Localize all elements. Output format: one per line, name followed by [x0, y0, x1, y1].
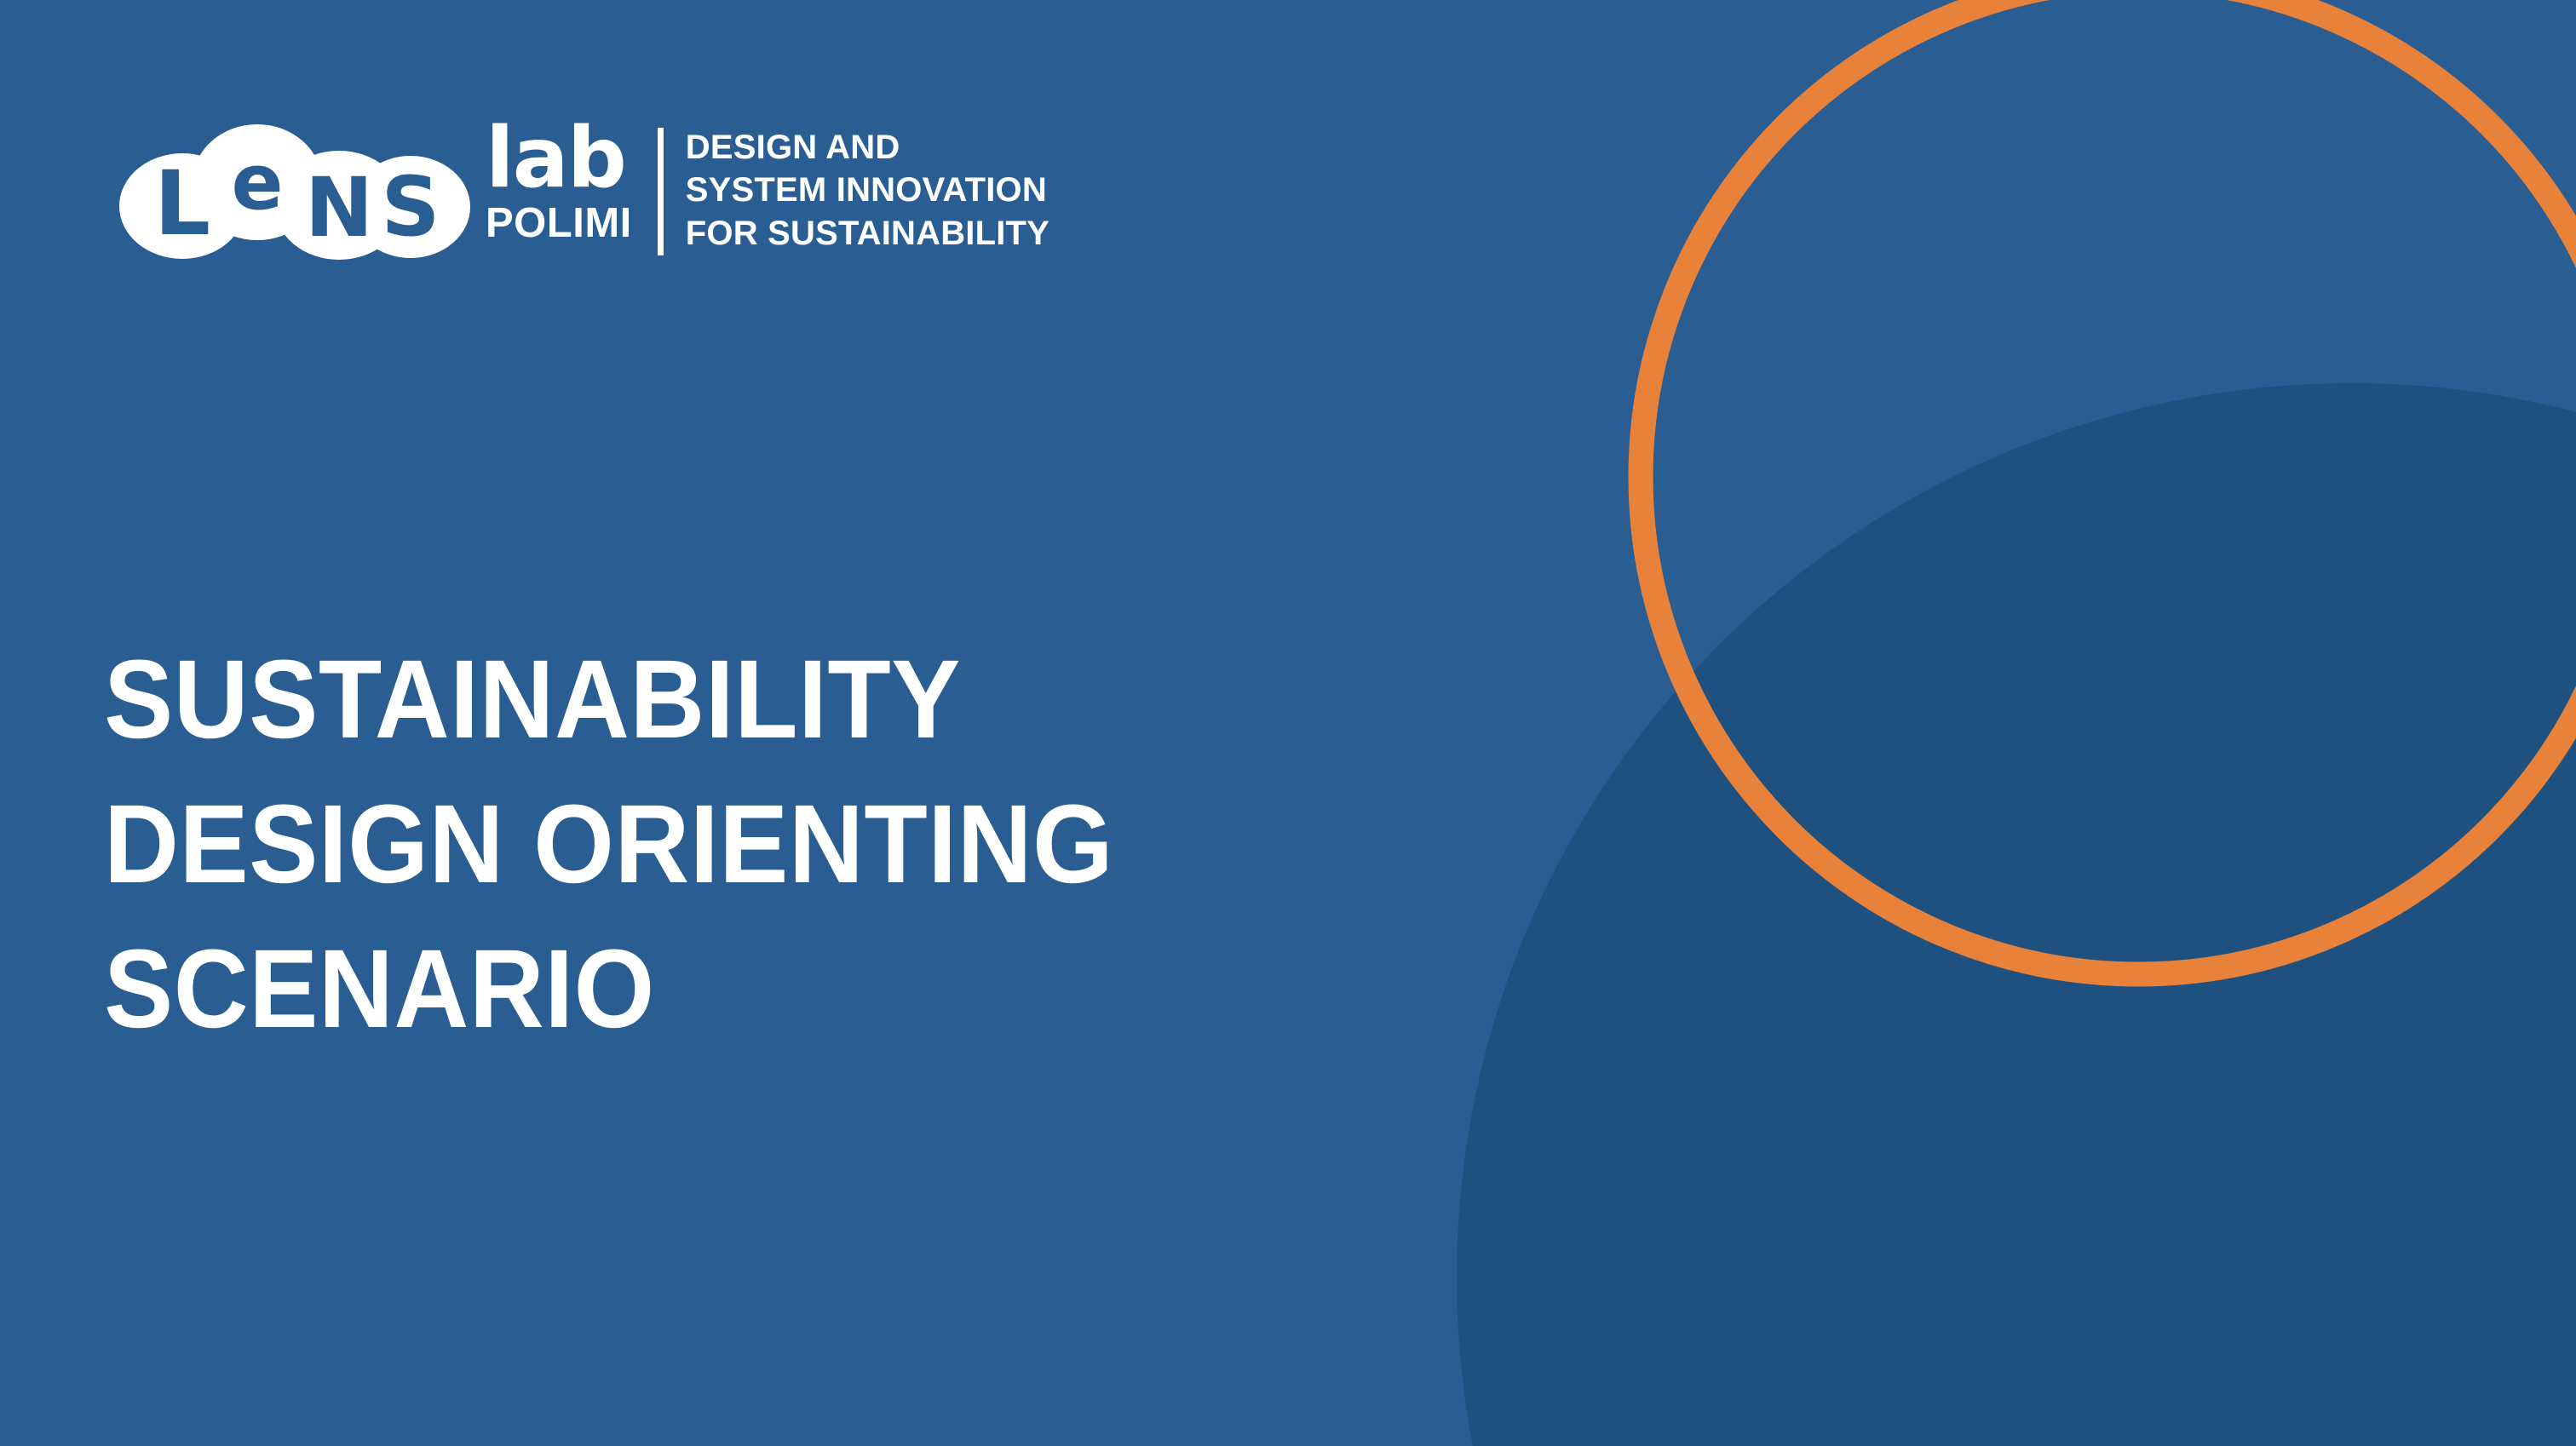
presentation-slide: L e N S lab POLIMI DESIGN AND SYSTEM INN…: [0, 0, 2576, 1446]
logo-polimi-label: POLIMI: [486, 203, 632, 244]
lab-polimi-block: lab POLIMI: [486, 121, 632, 244]
deep-blue-circle-shape: [1457, 383, 2576, 1446]
slide-title-line-1: SUSTAINABILITY: [104, 627, 1388, 772]
lens-lab-logo: L e N S lab POLIMI DESIGN AND SYSTEM INN…: [116, 121, 1049, 266]
logo-tagline: DESIGN AND SYSTEM INNOVATION FOR SUSTAIN…: [686, 121, 1049, 255]
tagline-line-1: DESIGN AND: [686, 126, 1049, 169]
slide-title: SUSTAINABILITY DESIGN ORIENTING SCENARIO: [104, 627, 1388, 1062]
logo-lab-label: lab: [486, 124, 632, 192]
lens-wordmark-icon: L e N S: [116, 121, 474, 264]
logo-divider: [658, 128, 664, 255]
orange-ring-shape: [1641, 0, 2576, 974]
slide-title-line-3: SCENARIO: [104, 916, 1388, 1061]
slide-title-line-2: DESIGN ORIENTING: [104, 772, 1388, 916]
tagline-line-3: FOR SUSTAINABILITY: [686, 212, 1049, 255]
tagline-line-2: SYSTEM INNOVATION: [686, 169, 1049, 211]
